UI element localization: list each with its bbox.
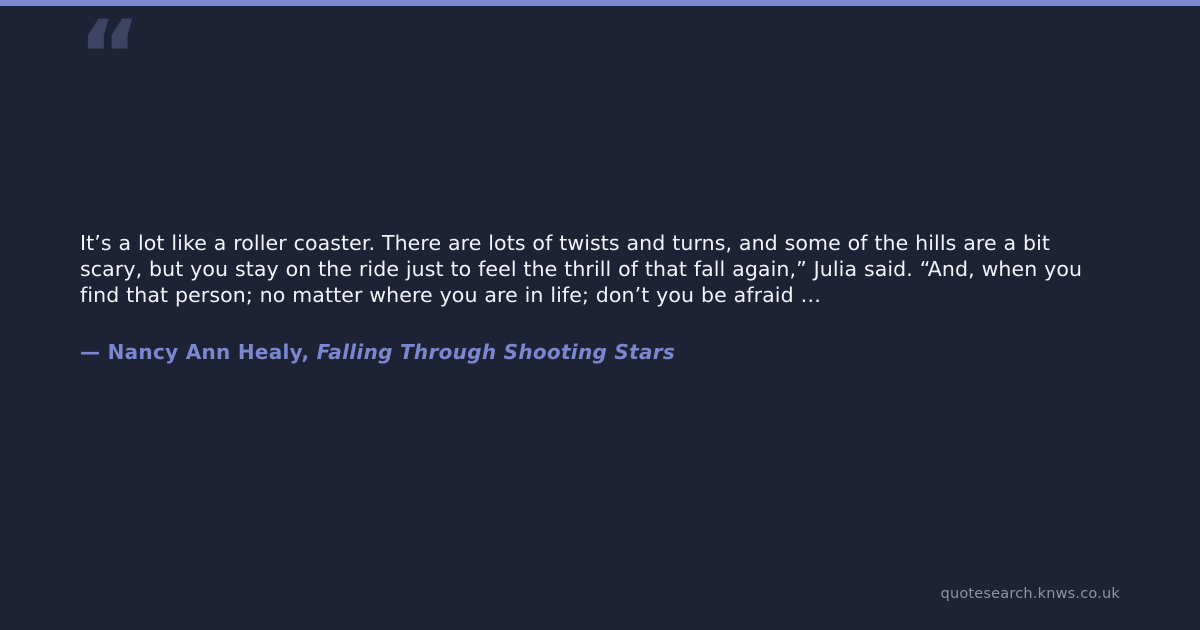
quote-card: “ It’s a lot like a roller coaster. Ther… [0, 0, 1200, 630]
attribution-author: Nancy Ann Healy, [108, 340, 310, 364]
top-accent-bar [0, 0, 1200, 6]
quote-text: It’s a lot like a roller coaster. There … [80, 230, 1110, 308]
site-url-label: quotesearch.knws.co.uk [941, 586, 1120, 602]
attribution-work-title: Falling Through Shooting Stars [317, 340, 675, 364]
attribution-dash: — [80, 340, 100, 364]
opening-quotation-mark-icon: “ [78, 8, 139, 104]
quote-attribution: — Nancy Ann Healy, Falling Through Shoot… [80, 340, 675, 364]
